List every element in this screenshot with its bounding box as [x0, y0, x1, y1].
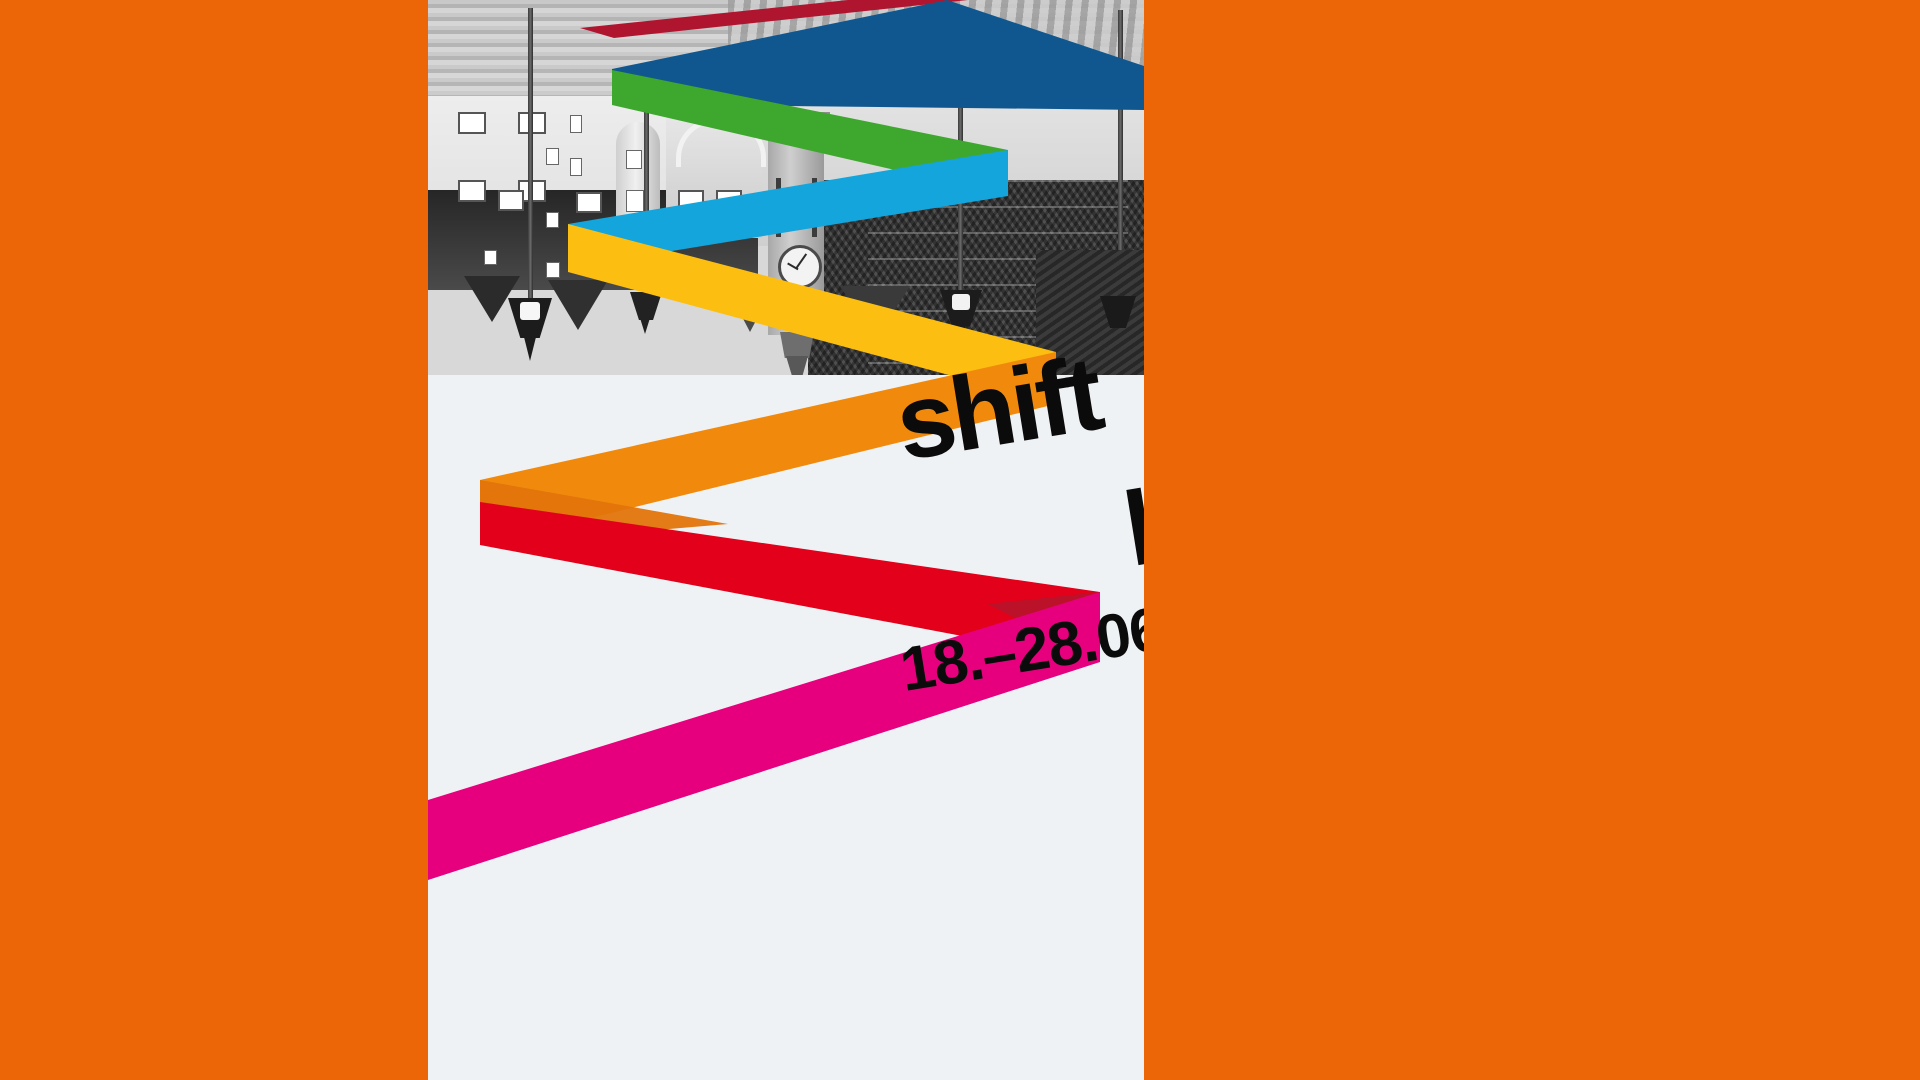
photo-streetlamp-glass: [520, 302, 540, 320]
photo-spire-cone: [786, 356, 808, 375]
headline-shift: shift: [889, 341, 1106, 477]
photo-window: [546, 212, 559, 228]
photo-window: [626, 150, 642, 169]
background-left: [0, 0, 428, 1080]
photo-gable: [548, 280, 608, 330]
photo-streetlamp-tip: [640, 318, 650, 334]
photo-window: [498, 190, 524, 211]
poster-stage: shift happens?! 18.–28.06.2026: [0, 0, 1920, 1080]
photo-window: [576, 192, 602, 213]
photo-window: [546, 148, 559, 165]
photo-window: [546, 262, 560, 278]
photo-window: [458, 180, 486, 202]
photo-window: [626, 190, 644, 212]
photo-window: [570, 115, 582, 133]
headline-happens: happens?!: [1117, 400, 1144, 583]
photo-streetlamp: [630, 292, 662, 320]
poster-panel: shift happens?! 18.–28.06.2026: [428, 0, 1144, 1080]
photo-streetlamp-tip: [524, 337, 536, 361]
photo-window: [458, 112, 486, 134]
photo-pole: [528, 8, 533, 302]
background-right: [1144, 0, 1920, 1080]
photo-window: [484, 250, 497, 265]
photo-window: [570, 158, 582, 176]
photo-streetlamp-glass: [952, 294, 970, 310]
